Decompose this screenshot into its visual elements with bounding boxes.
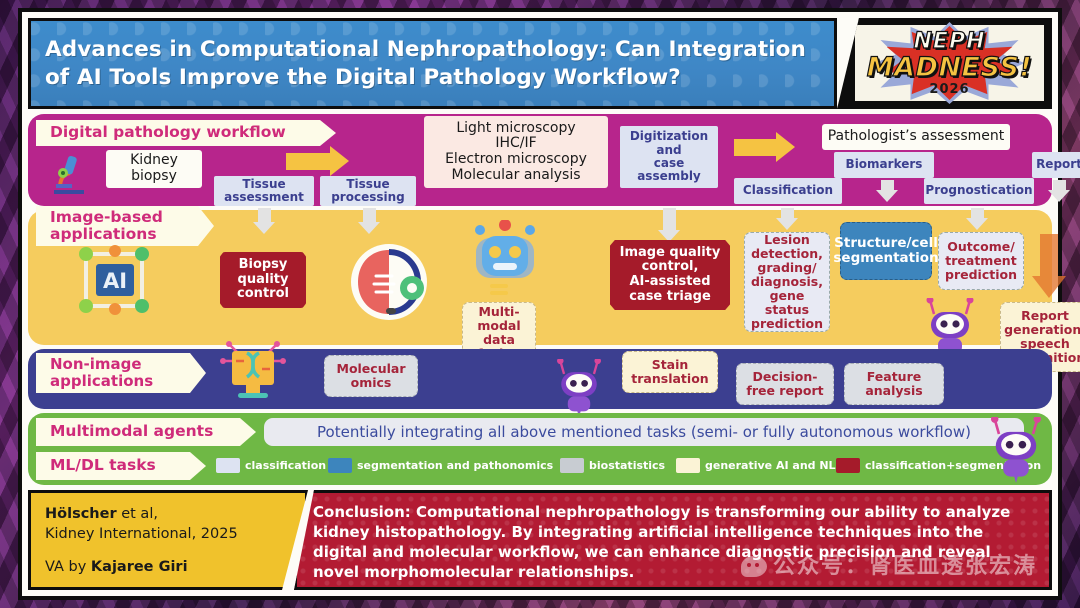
legend-swatch-biostatistics: [560, 458, 584, 473]
arrow-down-digitization: [658, 208, 680, 242]
title-panel: Advances in Computational Nephropatholog…: [28, 18, 837, 109]
arrow-down-biomarkers: [876, 180, 898, 202]
arrow-right-1: [286, 146, 349, 176]
microscope-icon: [46, 150, 92, 196]
logo-neph-text: NEPH: [867, 31, 1032, 53]
tag-non-image-applications: Non-image applications: [36, 353, 206, 393]
nephmadness-logo: NEPH MADNESS! 2026: [837, 18, 1052, 109]
tag-ml-dl-tasks: ML/DL tasks: [36, 452, 206, 480]
node-report[interactable]: Report: [1032, 152, 1080, 178]
blue-robot-icon: [466, 220, 544, 298]
legend-item-segmentation: segmentation and pathonomics: [328, 458, 553, 473]
purple-robot-icon-3: [990, 417, 1042, 483]
node-light-microscopy-group[interactable]: Light microscopy IHC/IF Electron microsc…: [424, 116, 608, 188]
va-author: Kajaree Giri: [91, 559, 188, 575]
citation-journal: Kidney International, 2025: [45, 525, 291, 545]
citation-block: Hölscher et al, Kidney International, 20…: [28, 490, 308, 590]
svg-text:AI: AI: [103, 269, 127, 293]
va-prefix: VA by: [45, 559, 91, 575]
legend-swatch-generative-ai: [676, 458, 700, 473]
legend-swatch-classification: [216, 458, 240, 473]
conclusion-block: Conclusion: Computational nephropatholog…: [294, 490, 1052, 590]
node-digitization-case-assembly[interactable]: Digitization and case assembly: [620, 126, 718, 188]
poster-frame: Advances in Computational Nephropatholog…: [18, 8, 1062, 600]
agents-description-pill: Potentially integrating all above mentio…: [264, 418, 1024, 446]
node-outcome-treatment-prediction[interactable]: Outcome/ treatment prediction: [938, 232, 1024, 290]
row-digital-pathology-workflow: Digital pathology workflow Kidney biopsy…: [28, 114, 1052, 206]
legend-label-segmentation: segmentation and pathonomics: [357, 459, 553, 472]
arrow-right-2: [734, 132, 795, 162]
row-non-image-applications: Non-image applications Molecular omics S…: [28, 349, 1052, 409]
row-multimodal-agents: Multimodal agents Potentially integratin…: [28, 413, 1052, 485]
node-structure-cell-segmentation[interactable]: Structure/cell segmentation: [840, 222, 932, 280]
legend-swatch-classification-segmentation: [836, 458, 860, 473]
node-tissue-processing[interactable]: Tissue processing: [320, 176, 416, 206]
node-lesion-detection-grading[interactable]: Lesion detection, grading/ diagnosis, ge…: [744, 232, 830, 332]
node-decision-free-report[interactable]: Decision- free report: [736, 363, 834, 405]
page-title: Advances in Computational Nephropatholog…: [45, 36, 820, 91]
logo-madness-text: MADNESS!: [867, 54, 1032, 81]
node-molecular-omics[interactable]: Molecular omics: [324, 355, 418, 397]
brain-lightbulb-icon: [346, 242, 432, 322]
legend-label-classification: classification: [245, 459, 326, 472]
wechat-icon: [741, 556, 767, 577]
node-feature-analysis[interactable]: Feature analysis: [844, 363, 944, 405]
arrow-down-tissue-processing: [358, 208, 380, 234]
citation-etal: et al,: [117, 506, 158, 522]
node-tissue-assessment[interactable]: Tissue assessment: [214, 176, 314, 206]
legend-item-classification: classification: [216, 458, 326, 473]
arrow-down-report: [1048, 180, 1070, 202]
purple-robot-icon-2: [556, 359, 602, 417]
tag-multimodal-agents: Multimodal agents: [36, 418, 256, 446]
row-image-based-applications: Image-based applications AI Biopsy quali…: [28, 210, 1052, 345]
legend-item-biostatistics: biostatistics: [560, 458, 665, 473]
legend-swatch-segmentation: [328, 458, 352, 473]
node-prognostication[interactable]: Prognostication: [924, 178, 1034, 204]
legend-label-biostatistics: biostatistics: [589, 459, 665, 472]
watermark: 公众号：肾医血透张宏涛: [741, 552, 1037, 581]
node-pathologists-assessment[interactable]: Pathologist’s assessment: [822, 124, 1010, 150]
tag-digital-pathology-workflow: Digital pathology workflow: [36, 120, 336, 146]
logo-year-text: 2026: [867, 83, 1032, 96]
node-biomarkers[interactable]: Biomarkers: [834, 152, 934, 178]
legend-label-generative-ai: generative AI and NLP: [705, 459, 844, 472]
arrow-down-big-orange: [1032, 234, 1066, 298]
legend-item-generative-ai: generative AI and NLP: [676, 458, 844, 473]
node-image-quality-control-triage[interactable]: Image quality control, AI-assisted case …: [610, 240, 730, 310]
infographic-panel: Digital pathology workflow Kidney biopsy…: [28, 114, 1052, 485]
header: Advances in Computational Nephropatholog…: [28, 18, 1052, 109]
arrow-down-tissue-assessment: [253, 208, 275, 234]
watermark-text: 公众号：肾医血透张宏涛: [773, 552, 1037, 581]
molecular-omics-icon: [216, 331, 290, 405]
citation-author: Hölscher: [45, 506, 117, 522]
node-kidney-biopsy[interactable]: Kidney biopsy: [106, 150, 202, 188]
footer: Hölscher et al, Kidney International, 20…: [28, 490, 1052, 590]
arrow-down-prognostication: [966, 208, 988, 230]
arrow-down-classification: [776, 208, 798, 230]
ai-network-icon: AI: [72, 240, 158, 320]
node-stain-translation[interactable]: Stain translation: [622, 351, 718, 393]
node-biopsy-quality-control[interactable]: Biopsy quality control: [220, 252, 306, 308]
node-classification[interactable]: Classification: [734, 178, 842, 204]
